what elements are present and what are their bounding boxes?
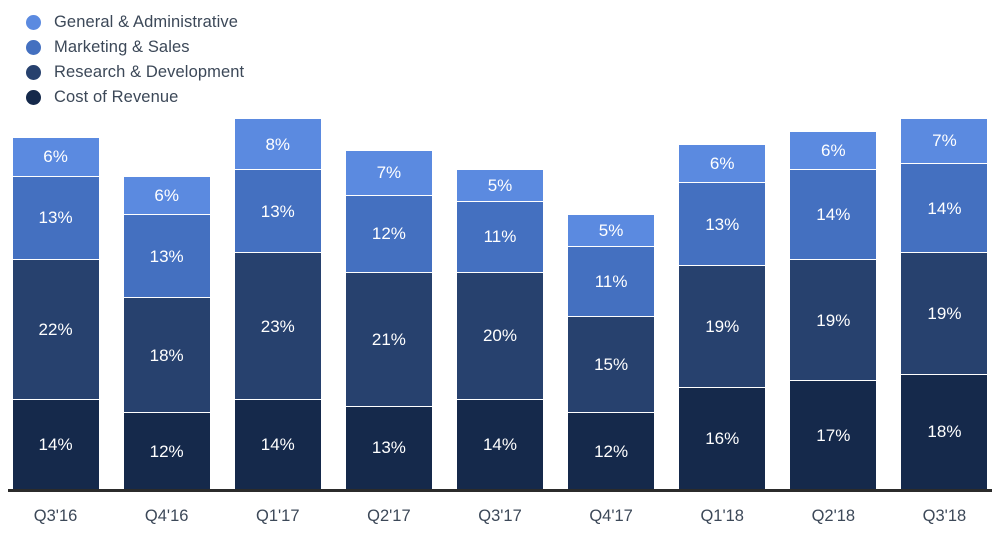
legend-item-label: Research & Development	[54, 63, 244, 82]
stacked-bar[interactable]: 6%14%19%17%	[789, 131, 877, 489]
bar-segment-value-label: 19%	[816, 312, 850, 329]
bar-segment-value-label: 19%	[927, 305, 961, 322]
bar-segment-value-label: 20%	[483, 327, 517, 344]
bar-segment[interactable]: 15%	[567, 316, 655, 412]
stacked-bar[interactable]: 6%13%18%12%	[123, 176, 211, 489]
x-axis-tick-label: Q1'17	[222, 497, 333, 537]
bar-segment-value-label: 5%	[488, 177, 513, 194]
bar-segment-value-label: 12%	[594, 443, 628, 460]
bar-segment[interactable]: 13%	[678, 182, 766, 265]
legend-item[interactable]: General & Administrative	[26, 10, 244, 35]
legend-item-label: Cost of Revenue	[54, 88, 178, 107]
x-axis-tick-label: Q2'18	[778, 497, 889, 537]
legend-swatch-icon	[26, 65, 41, 80]
stacked-bar[interactable]: 7%14%19%18%	[900, 118, 988, 489]
bar-segment[interactable]: 14%	[456, 399, 544, 489]
bar-segment-value-label: 13%	[705, 216, 739, 233]
bar-segment[interactable]: 6%	[789, 131, 877, 169]
bar-segment-value-label: 14%	[39, 436, 73, 453]
bar-slot: 7%12%21%13%	[333, 118, 444, 489]
bar-slot: 6%13%22%14%	[0, 118, 111, 489]
bar-segment-value-label: 6%	[154, 187, 179, 204]
bar-segment-value-label: 8%	[265, 136, 290, 153]
bar-segment-value-label: 13%	[372, 439, 406, 456]
bar-segment-value-label: 23%	[261, 318, 295, 335]
bar-segment[interactable]: 6%	[12, 137, 100, 175]
bar-segment[interactable]: 13%	[123, 214, 211, 297]
bar-segment[interactable]: 19%	[900, 252, 988, 374]
bar-segment-value-label: 12%	[372, 225, 406, 242]
bar-segment[interactable]: 23%	[234, 252, 322, 399]
bar-segment[interactable]: 14%	[789, 169, 877, 259]
stacked-bar[interactable]: 5%11%20%14%	[456, 169, 544, 489]
bar-segment[interactable]: 11%	[456, 201, 544, 271]
x-axis-tick-labels: Q3'16Q4'16Q1'17Q2'17Q3'17Q4'17Q1'18Q2'18…	[0, 497, 1000, 537]
bar-segment-value-label: 5%	[599, 222, 624, 239]
bar-segment[interactable]: 19%	[789, 259, 877, 381]
bar-segment-value-label: 13%	[39, 209, 73, 226]
bar-segment-value-label: 7%	[932, 132, 957, 149]
x-axis-tick-label: Q3'17	[444, 497, 555, 537]
legend-swatch-icon	[26, 15, 41, 30]
bar-segment[interactable]: 19%	[678, 265, 766, 387]
stacked-bar[interactable]: 5%11%15%12%	[567, 214, 655, 489]
bar-segment-value-label: 18%	[927, 423, 961, 440]
bar-slot: 6%14%19%17%	[778, 118, 889, 489]
bar-segment-value-label: 22%	[39, 321, 73, 338]
bar-segment[interactable]: 5%	[567, 214, 655, 246]
bar-segment-value-label: 21%	[372, 331, 406, 348]
bar-segment-value-label: 15%	[594, 356, 628, 373]
bar-segment[interactable]: 12%	[567, 412, 655, 489]
x-axis-tick-label: Q3'16	[0, 497, 111, 537]
stacked-bar[interactable]: 6%13%19%16%	[678, 144, 766, 489]
bar-segment[interactable]: 6%	[678, 144, 766, 182]
bar-segment-value-label: 13%	[150, 248, 184, 265]
bar-segment-value-label: 12%	[150, 443, 184, 460]
bar-slot: 6%13%19%16%	[667, 118, 778, 489]
bar-segment[interactable]: 7%	[900, 118, 988, 163]
x-axis-tick-label: Q3'18	[889, 497, 1000, 537]
bar-segment-value-label: 14%	[483, 436, 517, 453]
bar-segment[interactable]: 14%	[900, 163, 988, 253]
stacked-bar[interactable]: 7%12%21%13%	[345, 150, 433, 489]
stacked-bar[interactable]: 8%13%23%14%	[234, 118, 322, 489]
bar-segment[interactable]: 6%	[123, 176, 211, 214]
bar-segment[interactable]: 7%	[345, 150, 433, 195]
stacked-bar[interactable]: 6%13%22%14%	[12, 137, 100, 489]
bar-segment[interactable]: 16%	[678, 387, 766, 489]
stacked-bar-chart: General & AdministrativeMarketing & Sale…	[0, 0, 1000, 537]
bar-segment[interactable]: 8%	[234, 118, 322, 169]
x-axis-tick-label: Q4'17	[556, 497, 667, 537]
x-axis-tick-label: Q4'16	[111, 497, 222, 537]
bar-segment[interactable]: 12%	[345, 195, 433, 272]
bar-group: 6%13%22%14%6%13%18%12%8%13%23%14%7%12%21…	[0, 118, 1000, 489]
bar-segment-value-label: 18%	[150, 347, 184, 364]
bar-segment[interactable]: 21%	[345, 272, 433, 406]
bar-segment[interactable]: 18%	[900, 374, 988, 489]
bar-segment-value-label: 6%	[710, 155, 735, 172]
bar-segment-value-label: 6%	[821, 142, 846, 159]
legend-item[interactable]: Cost of Revenue	[26, 85, 244, 110]
legend-swatch-icon	[26, 90, 41, 105]
bar-segment[interactable]: 13%	[234, 169, 322, 252]
legend-item[interactable]: Research & Development	[26, 60, 244, 85]
bar-slot: 7%14%19%18%	[889, 118, 1000, 489]
legend-item-label: Marketing & Sales	[54, 38, 190, 57]
legend-swatch-icon	[26, 40, 41, 55]
bar-segment-value-label: 11%	[595, 273, 628, 290]
bar-segment-value-label: 7%	[377, 164, 402, 181]
bar-slot: 5%11%15%12%	[556, 118, 667, 489]
bar-segment[interactable]: 20%	[456, 272, 544, 400]
bar-segment-value-label: 6%	[43, 148, 68, 165]
bar-slot: 5%11%20%14%	[444, 118, 555, 489]
bar-segment[interactable]: 14%	[12, 399, 100, 489]
legend-item[interactable]: Marketing & Sales	[26, 35, 244, 60]
bar-segment[interactable]: 12%	[123, 412, 211, 489]
bar-segment-value-label: 14%	[261, 436, 295, 453]
bar-segment[interactable]: 13%	[345, 406, 433, 489]
bar-segment-value-label: 14%	[927, 200, 961, 217]
chart-legend: General & AdministrativeMarketing & Sale…	[26, 10, 244, 110]
x-axis-baseline	[8, 489, 992, 492]
bar-segment[interactable]: 13%	[12, 176, 100, 259]
bar-segment[interactable]: 17%	[789, 380, 877, 489]
bar-segment[interactable]: 11%	[567, 246, 655, 316]
plot-area: 6%13%22%14%6%13%18%12%8%13%23%14%7%12%21…	[0, 118, 1000, 492]
x-axis-tick-label: Q1'18	[667, 497, 778, 537]
bar-slot: 6%13%18%12%	[111, 118, 222, 489]
bar-segment-value-label: 16%	[705, 430, 739, 447]
bar-segment[interactable]: 22%	[12, 259, 100, 400]
x-axis-tick-label: Q2'17	[333, 497, 444, 537]
bar-slot: 8%13%23%14%	[222, 118, 333, 489]
bar-segment[interactable]: 14%	[234, 399, 322, 489]
bar-segment-value-label: 17%	[816, 427, 850, 444]
legend-item-label: General & Administrative	[54, 13, 238, 32]
bar-segment-value-label: 14%	[816, 206, 850, 223]
bar-segment[interactable]: 18%	[123, 297, 211, 412]
bar-segment-value-label: 11%	[484, 228, 517, 245]
bar-segment[interactable]: 5%	[456, 169, 544, 201]
bar-segment-value-label: 19%	[705, 318, 739, 335]
bar-segment-value-label: 13%	[261, 203, 295, 220]
